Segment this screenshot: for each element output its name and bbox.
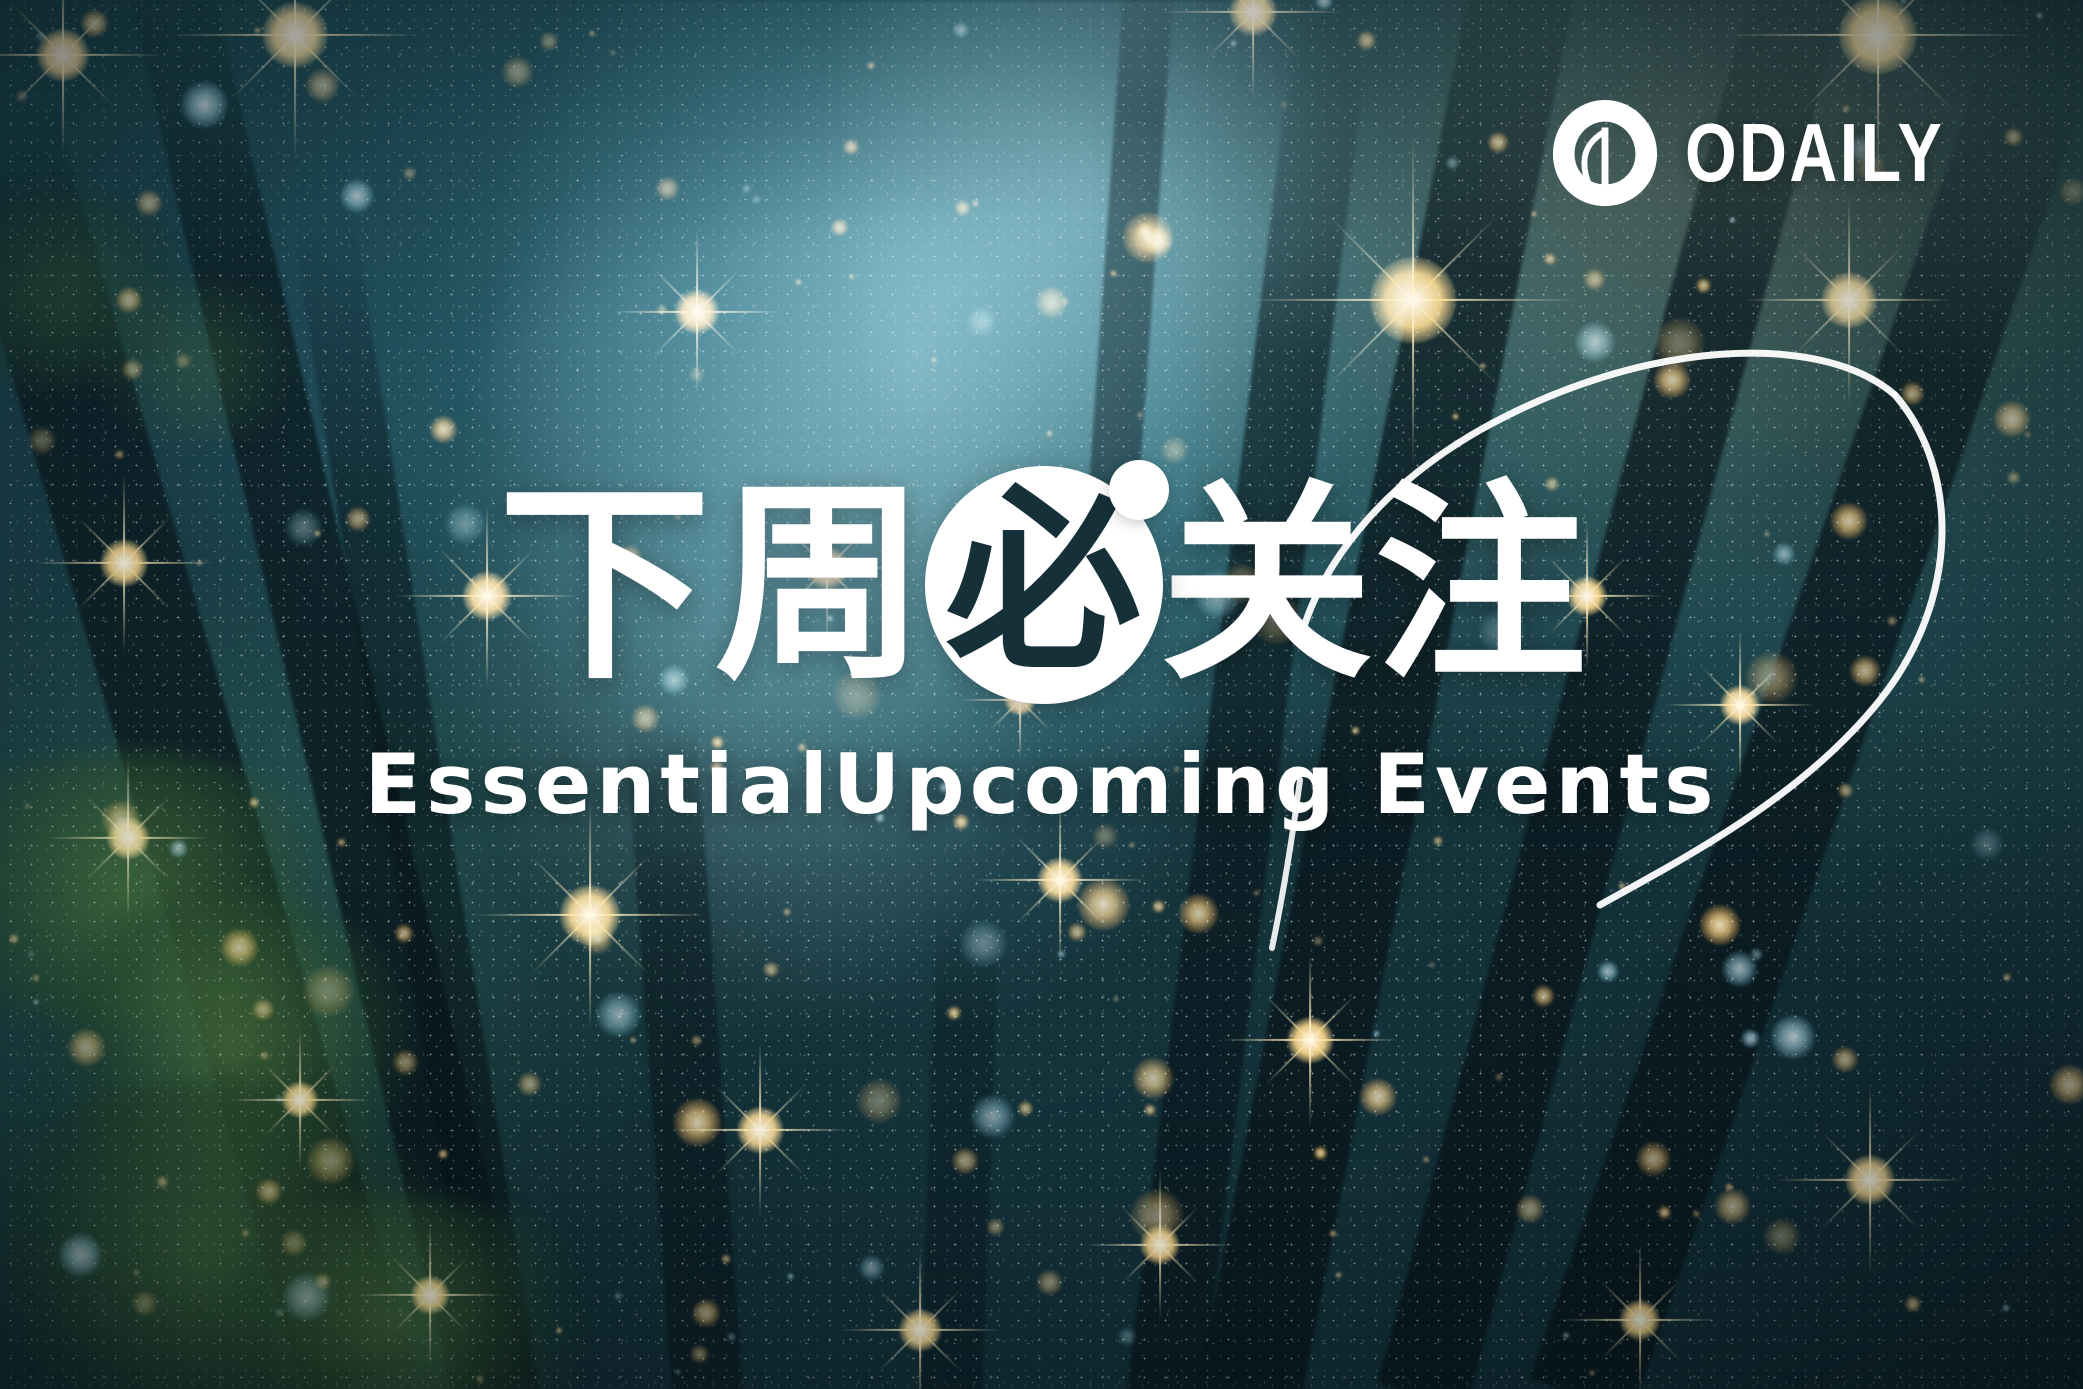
badge-accent-dot (1109, 460, 1169, 520)
title-char-xia: 下 (499, 479, 709, 691)
title-char-zhou: 周 (715, 479, 925, 691)
odaily-wordmark: ODAILY (1685, 118, 1944, 188)
title-block: 下 周 必 关 注 EssentialUpcoming Events (0, 470, 2083, 833)
poster-canvas: ODAILY 下 周 必 关 注 EssentialUpcoming Event… (0, 0, 2083, 1389)
odaily-leaf-circle-mark (1551, 98, 1659, 208)
title-char-guan: 关 (1161, 479, 1371, 691)
chinese-title-row: 下 周 必 关 注 (499, 470, 1585, 700)
title-char-zhu: 注 (1375, 479, 1585, 691)
title-badge-bi: 必 (925, 466, 1163, 704)
english-subtitle: EssentialUpcoming Events (364, 736, 1718, 833)
odaily-logo[interactable]: ODAILY (1551, 98, 2009, 208)
